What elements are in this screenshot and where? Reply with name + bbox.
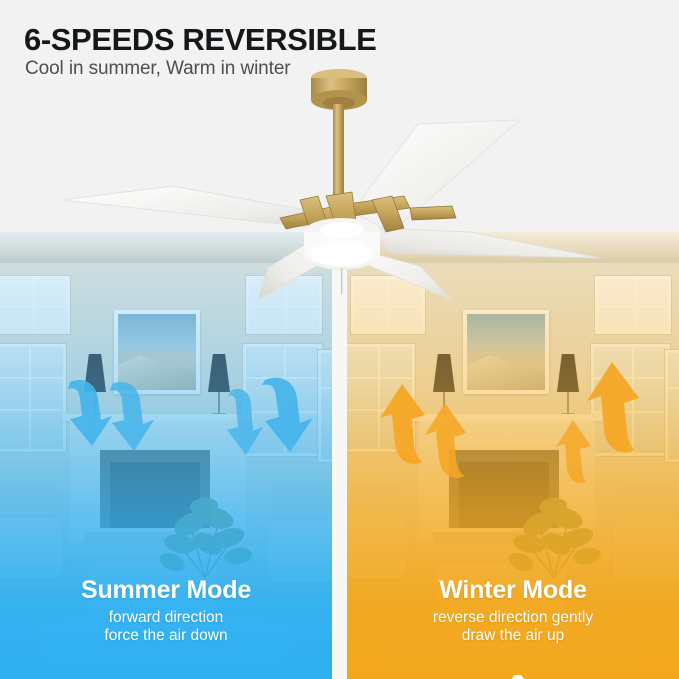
window-upper-left: [351, 276, 425, 334]
page-title: 6-SPEEDS REVERSIBLE: [24, 22, 376, 58]
window-far-right: [665, 350, 679, 462]
infographic-page: 6-SPEEDS REVERSIBLE Cool in summer, Warm…: [0, 0, 679, 679]
winter-mode-title: Winter Mode: [347, 577, 679, 605]
artwork-image: [118, 314, 196, 390]
summer-desc-line1: forward direction: [0, 609, 332, 627]
winter-mode-description: reverse direction gently draw the air up: [347, 609, 679, 646]
firebox-opening: [459, 462, 549, 528]
panel-divider: [332, 232, 347, 679]
mode-comparison: Summer Mode forward direction force the …: [0, 232, 679, 679]
summer-mode-title: Summer Mode: [0, 577, 332, 605]
panel-winter: Winter Mode reverse direction gently dra…: [347, 232, 679, 679]
artwork-dune: [118, 350, 196, 390]
lamp-left-stem: [94, 392, 96, 414]
wall-artwork: [463, 310, 549, 394]
artwork-dune: [467, 350, 545, 390]
caption-summer: Summer Mode forward direction force the …: [0, 577, 332, 645]
winter-desc-line1: reverse direction gently: [347, 609, 679, 627]
window-tall-right: [243, 344, 322, 456]
summer-mode-description: forward direction force the air down: [0, 609, 332, 646]
artwork-image: [467, 314, 545, 390]
wall-artwork: [114, 310, 200, 394]
ceiling-trim: [0, 258, 332, 263]
hearth: [84, 532, 230, 543]
summer-desc-line2: force the air down: [0, 627, 332, 645]
hearth: [433, 532, 579, 543]
window-far-right: [318, 350, 332, 462]
mantel-shelf: [411, 414, 603, 421]
header-band: 6-SPEEDS REVERSIBLE Cool in summer, Warm…: [0, 0, 679, 232]
panel-summer: Summer Mode forward direction force the …: [0, 232, 332, 679]
sofa-left: [0, 518, 62, 578]
ceiling: [0, 232, 332, 258]
sofa-left: [347, 518, 407, 578]
ceiling: [347, 232, 679, 258]
window-tall-right: [591, 344, 670, 456]
window-upper-right: [595, 276, 671, 334]
lamp-right-stem: [218, 392, 220, 414]
lamp-left-stem: [443, 392, 445, 414]
window-upper-right: [246, 276, 322, 334]
lamp-right-stem: [567, 392, 569, 414]
sofa-right: [268, 520, 332, 582]
window-tall-left: [347, 344, 415, 452]
winter-desc-line2: draw the air up: [347, 627, 679, 645]
caption-winter: Winter Mode reverse direction gently dra…: [347, 577, 679, 645]
window-tall-left: [0, 344, 66, 452]
sofa-right: [613, 520, 679, 582]
firebox-opening: [110, 462, 200, 528]
window-upper-left: [0, 276, 70, 334]
page-subtitle: Cool in summer, Warm in winter: [25, 58, 291, 80]
ceiling-trim: [347, 258, 679, 263]
mantel-shelf: [62, 414, 254, 421]
